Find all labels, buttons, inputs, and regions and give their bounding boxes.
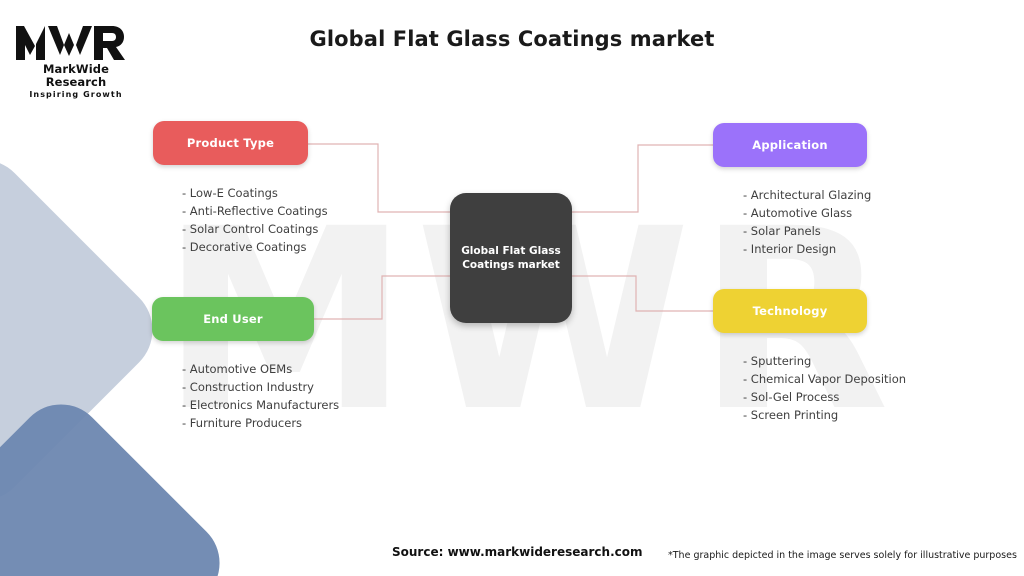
list-item: - Automotive OEMs <box>182 360 314 378</box>
center-node[interactable]: Global Flat Glass Coatings market <box>450 193 572 323</box>
list-item: - Furniture Producers <box>182 414 314 432</box>
list-item: - Electronics Manufacturers <box>182 396 314 414</box>
list-item: - Low-E Coatings <box>182 184 308 202</box>
brand-name: MarkWide Research <box>14 63 138 89</box>
branch-items-end-user: - Automotive OEMs - Construction Industr… <box>152 360 314 432</box>
connector-application <box>572 145 713 212</box>
infographic-canvas: MWR MarkWide Research <box>0 0 1024 576</box>
connector-technology <box>572 276 713 311</box>
branch-technology: Technology - Sputtering - Chemical Vapor… <box>713 289 867 424</box>
list-item: - Screen Printing <box>743 406 867 424</box>
list-item: - Anti-Reflective Coatings <box>182 202 308 220</box>
brand-tagline: Inspiring Growth <box>14 90 138 99</box>
center-node-label-line2: Coatings market <box>462 259 560 271</box>
branch-header-application[interactable]: Application <box>713 123 867 167</box>
center-node-label-line1: Global Flat Glass <box>461 245 561 257</box>
branch-items-product-type: - Low-E Coatings - Anti-Reflective Coati… <box>153 184 308 256</box>
footer-disclaimer: *The graphic depicted in the image serve… <box>668 550 1017 561</box>
center-node-label: Global Flat Glass Coatings market <box>453 244 569 272</box>
list-item: - Solar Control Coatings <box>182 220 308 238</box>
list-item: - Sol-Gel Process <box>743 388 867 406</box>
branch-items-technology: - Sputtering - Chemical Vapor Deposition… <box>713 352 867 424</box>
list-item: - Construction Industry <box>182 378 314 396</box>
list-item: - Chemical Vapor Deposition <box>743 370 867 388</box>
decorative-diamond-light <box>0 140 172 519</box>
connector-end-user <box>314 276 450 319</box>
list-item: - Architectural Glazing <box>743 186 867 204</box>
footer-source: Source: www.markwideresearch.com <box>392 545 642 559</box>
connector-product-type <box>308 144 450 212</box>
list-item: - Decorative Coatings <box>182 238 308 256</box>
branch-header-technology[interactable]: Technology <box>713 289 867 333</box>
list-item: - Sputtering <box>743 352 867 370</box>
page-title: Global Flat Glass Coatings market <box>0 27 1024 51</box>
branch-product-type: Product Type - Low-E Coatings - Anti-Ref… <box>153 121 308 256</box>
list-item: - Automotive Glass <box>743 204 867 222</box>
list-item: - Solar Panels <box>743 222 867 240</box>
branch-application: Application - Architectural Glazing - Au… <box>713 123 867 258</box>
branch-end-user: End User - Automotive OEMs - Constructio… <box>152 297 314 432</box>
branch-header-product-type[interactable]: Product Type <box>153 121 308 165</box>
list-item: - Interior Design <box>743 240 867 258</box>
branch-header-end-user[interactable]: End User <box>152 297 314 341</box>
branch-items-application: - Architectural Glazing - Automotive Gla… <box>713 186 867 258</box>
